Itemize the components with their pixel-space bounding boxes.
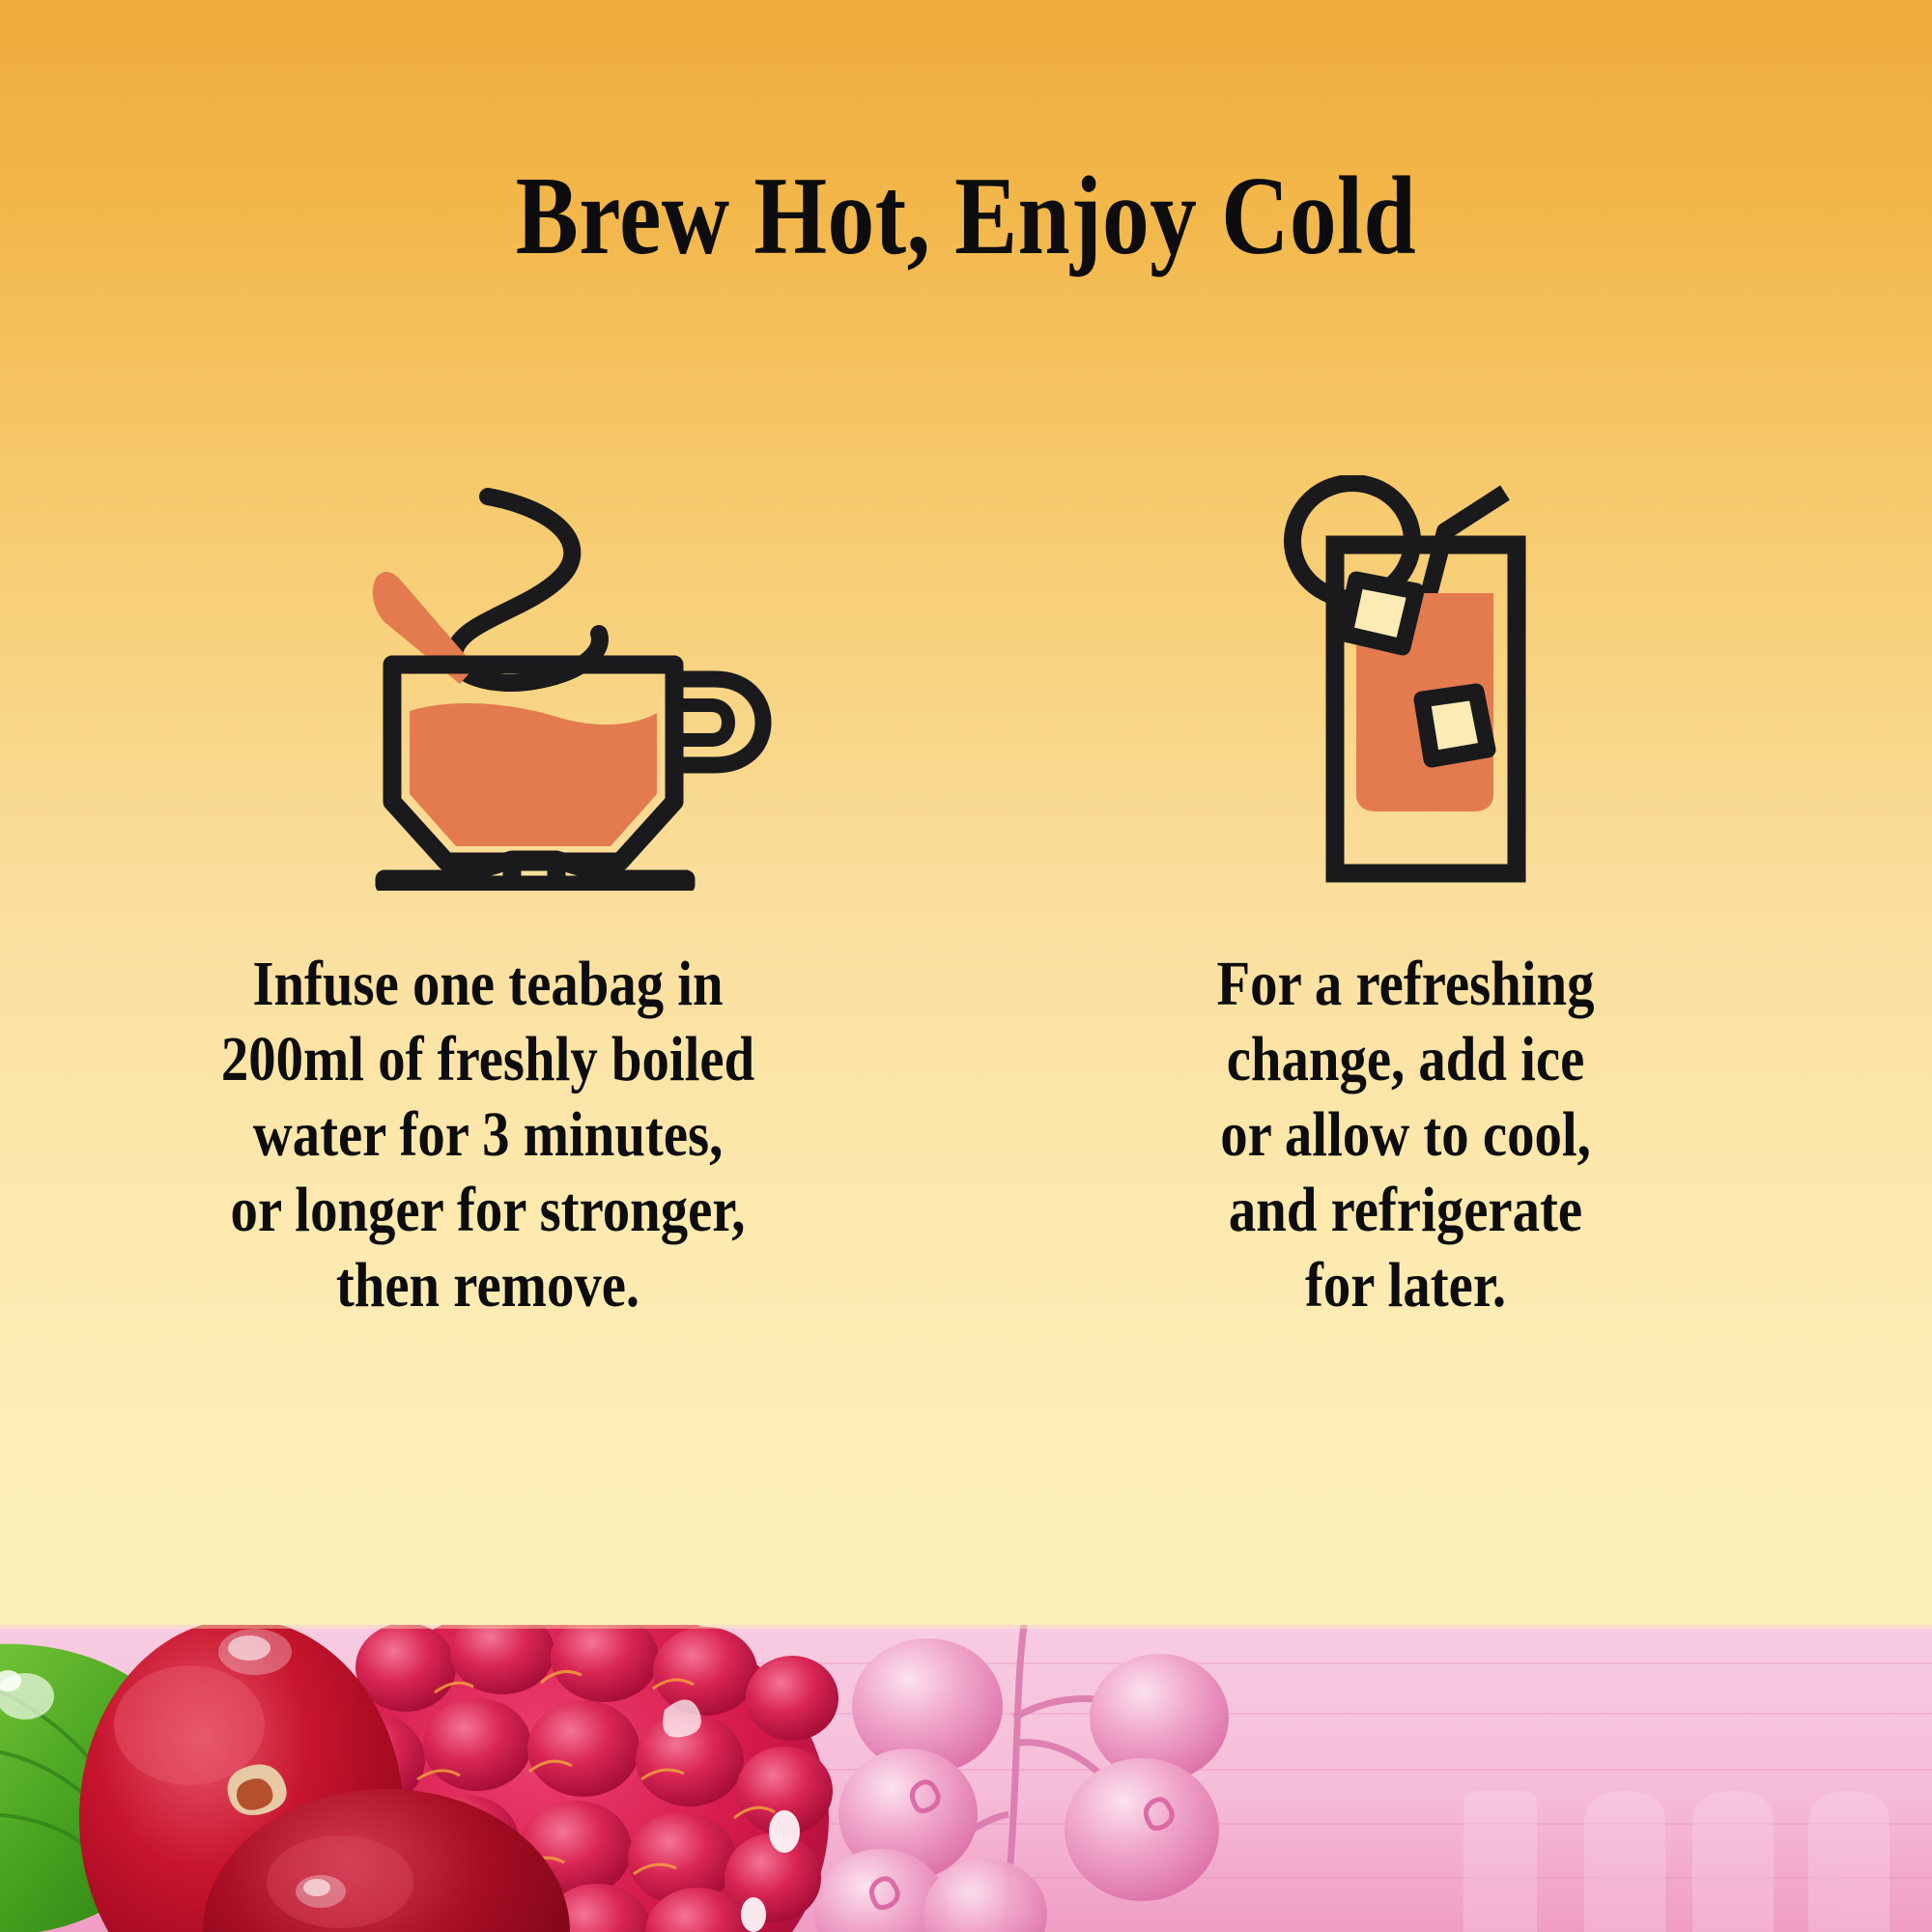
instruction-text-cold: For a refreshing change, add ice or allo… xyxy=(1119,947,1691,1322)
poster-root: Brew Hot, Enjoy Cold xyxy=(0,0,1932,1932)
icon-row xyxy=(0,475,1932,900)
tea-liquid xyxy=(410,703,657,846)
page-title: Brew Hot, Enjoy Cold xyxy=(0,160,1932,272)
hot-teacup-icon-cell xyxy=(251,475,927,900)
hot-teacup-icon xyxy=(367,475,811,891)
ice-cube-lower xyxy=(1422,692,1488,759)
instruction-line: and refrigerate xyxy=(1119,1173,1691,1248)
instruction-column-hot: Infuse one teabag in 200ml of freshly bo… xyxy=(106,947,869,1322)
steam-swirl xyxy=(454,497,600,683)
water-droplet xyxy=(218,1629,292,1675)
saucer-base xyxy=(384,860,686,885)
iced-drink-glass-icon xyxy=(1256,475,1642,891)
redcurrant xyxy=(1065,1758,1219,1901)
instruction-column-cold: For a refreshing change, add ice or allo… xyxy=(1072,947,1739,1322)
instruction-text-hot: Infuse one teabag in 200ml of freshly bo… xyxy=(159,947,815,1322)
fruit-band-art xyxy=(0,1625,1932,1932)
instruction-line: change, add ice xyxy=(1119,1022,1691,1097)
instruction-line: or allow to cool, xyxy=(1119,1097,1691,1173)
instruction-line: water for 3 minutes, xyxy=(159,1097,815,1173)
iced-drink-icon-cell xyxy=(1111,475,1787,900)
cup xyxy=(384,665,763,887)
instruction-line: 200ml of freshly boiled xyxy=(159,1022,815,1097)
instruction-line: for later. xyxy=(1119,1248,1691,1323)
instruction-columns: Infuse one teabag in 200ml of freshly bo… xyxy=(0,947,1932,1352)
instruction-line: then remove. xyxy=(159,1248,815,1323)
fruit-photo-band xyxy=(0,1625,1932,1932)
instruction-line: Infuse one teabag in xyxy=(159,947,815,1022)
page-title-text: Brew Hot, Enjoy Cold xyxy=(516,160,1416,272)
water-droplet xyxy=(296,1875,346,1908)
instruction-line: For a refreshing xyxy=(1119,947,1691,1022)
ice-cube-upper xyxy=(1345,580,1416,647)
instruction-line: or longer for stronger, xyxy=(159,1173,815,1248)
